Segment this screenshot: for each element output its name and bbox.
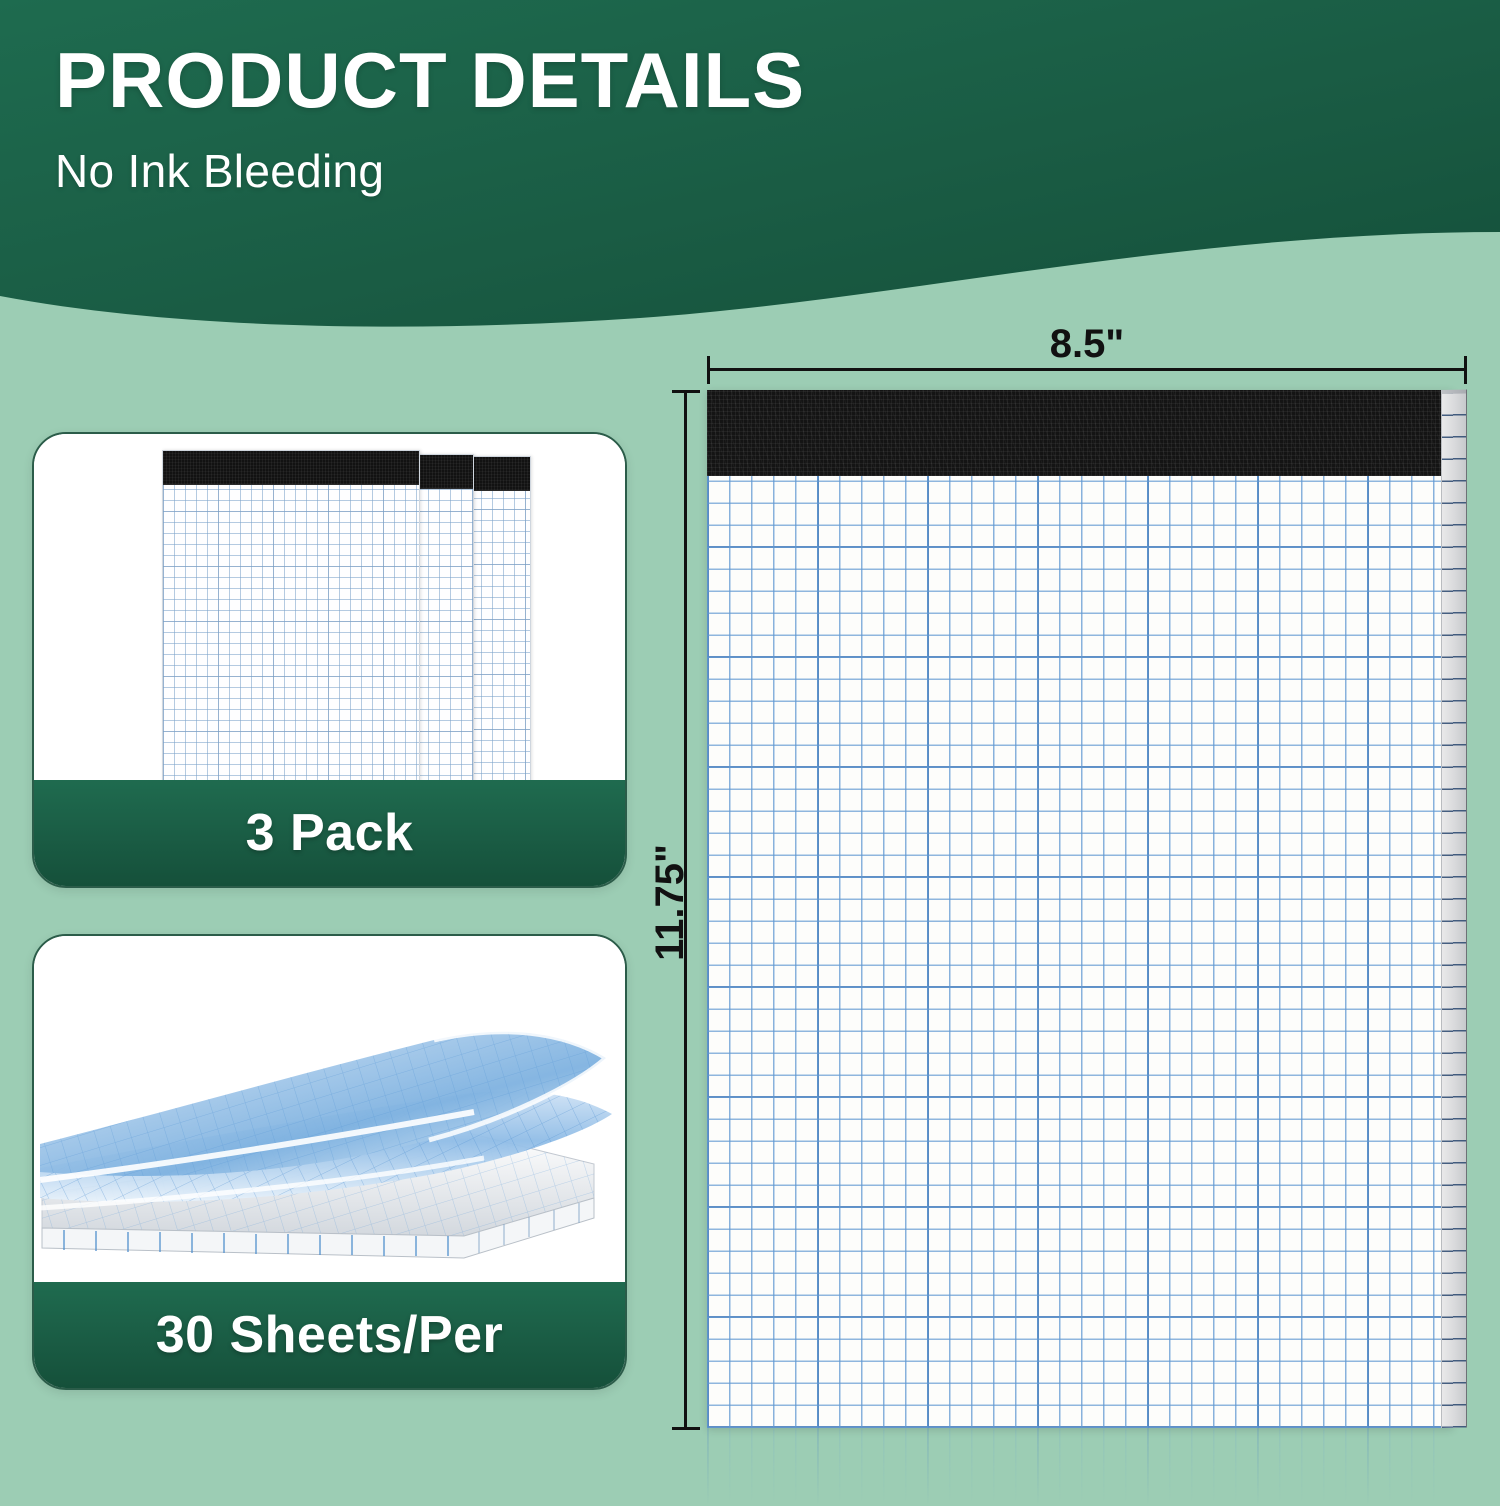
feature-card-30-sheets[interactable]: 30 Sheets/Per (32, 934, 627, 1390)
pad-grid-sheet (163, 485, 419, 784)
header-banner: PRODUCT DETAILS No Ink Bleeding (0, 0, 1500, 340)
page-subtitle: No Ink Bleeding (55, 144, 805, 198)
notepad-body (707, 390, 1453, 1428)
pad-mini-back (469, 456, 531, 784)
product-notepad-image (707, 390, 1467, 1428)
dimension-bar (707, 368, 1467, 371)
graph-sheet-stack-illustration (34, 936, 625, 1286)
card-label-text: 30 Sheets/Per (156, 1305, 504, 1365)
notepad-reflection (707, 1428, 1453, 1506)
page-title: PRODUCT DETAILS (55, 40, 805, 122)
dimension-cap-left (707, 356, 710, 384)
pad-binder-strip (470, 457, 530, 491)
dimension-cap-right (1464, 356, 1467, 384)
dimension-cap-top (672, 390, 700, 393)
card-label-bar: 3 Pack (34, 780, 625, 886)
dimension-bar (684, 390, 687, 1430)
pad-mini-middle (416, 454, 474, 784)
notepad-binder-strip (707, 390, 1453, 476)
notepad-stack-edge (1441, 393, 1467, 1428)
notepad-stack-edge-lines (1442, 393, 1466, 1428)
pad-grid-sheet (417, 489, 473, 784)
width-dimension-label: 8.5" (707, 322, 1467, 367)
pad-mini-front (162, 450, 420, 784)
card-media-sheet-stack (34, 936, 625, 1286)
dimension-cap-bottom (672, 1427, 700, 1430)
card-media-three-pads (34, 434, 625, 784)
pad-binder-strip (417, 455, 473, 489)
feature-card-3-pack[interactable]: 3 Pack (32, 432, 627, 888)
width-dimension-line (707, 368, 1467, 371)
height-dimension-line (684, 390, 687, 1430)
notepad-grid-paper (707, 476, 1453, 1428)
pad-binder-strip (163, 451, 419, 485)
pad-grid-sheet (470, 491, 530, 784)
card-label-text: 3 Pack (246, 803, 414, 863)
card-label-bar: 30 Sheets/Per (34, 1282, 625, 1388)
